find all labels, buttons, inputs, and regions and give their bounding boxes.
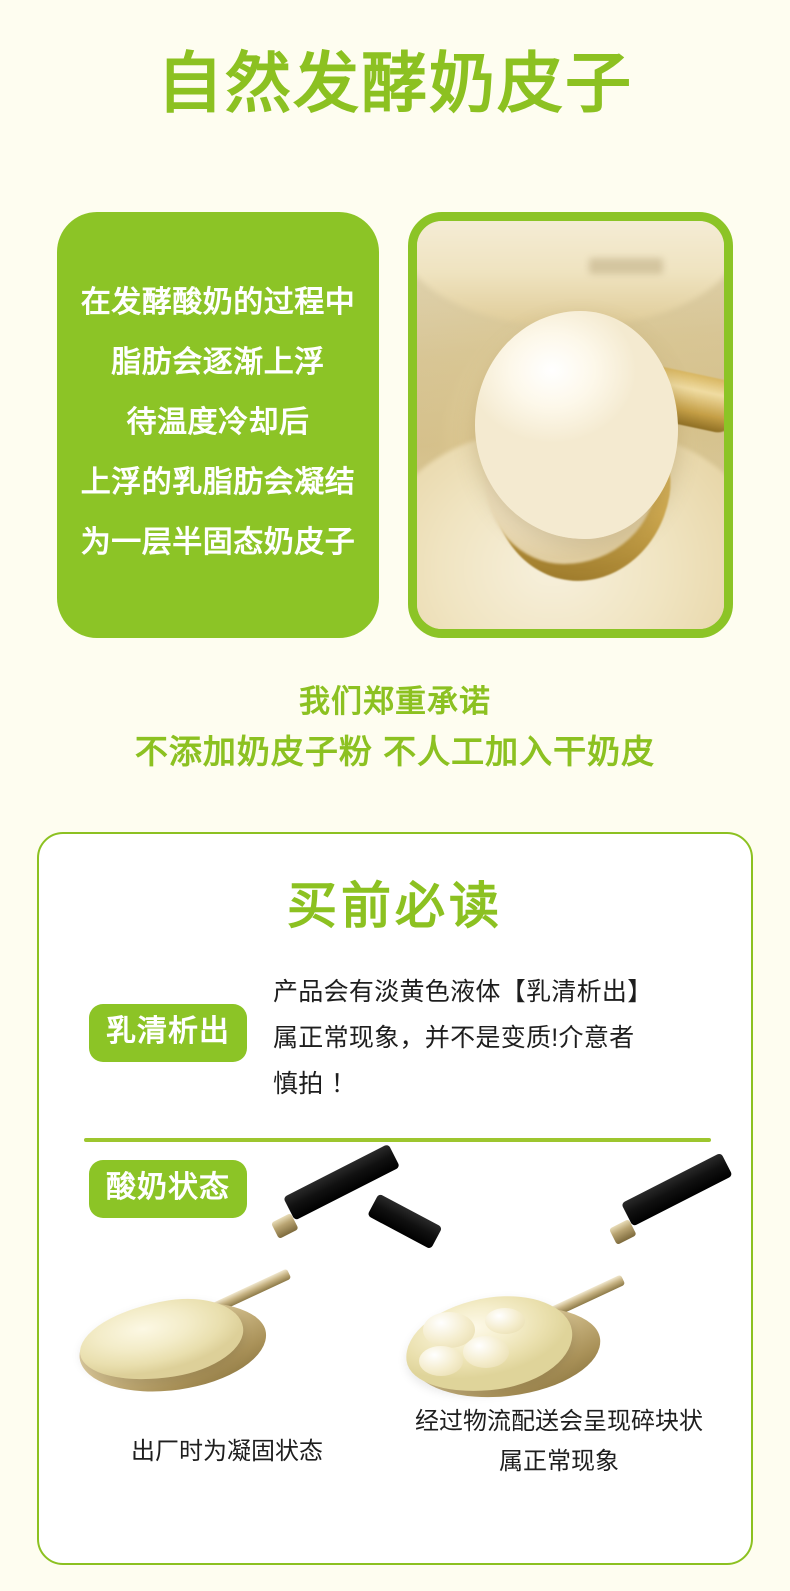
whey-line-2: 属正常现象，并不是变质!介意者 xyxy=(273,1018,703,1058)
must-read-card: 买前必读 乳清析出 产品会有淡黄色液体【乳清析出】 属正常现象，并不是变质!介意… xyxy=(37,832,753,1565)
yogurt-lump-4 xyxy=(485,1308,525,1334)
whey-line-1: 产品会有淡黄色液体【乳清析出】 xyxy=(273,972,703,1012)
hero-section: 在发酵酸奶的过程中 脂肪会逐渐上浮 待温度冷却后 上浮的乳脂肪会凝结 为一层半固… xyxy=(57,212,733,638)
caption-solid: 出厂时为凝固状态 xyxy=(57,1432,397,1472)
spoon-photo-solid xyxy=(57,1186,397,1436)
page-title: 自然发酵奶皮子 xyxy=(0,44,790,122)
yogurt-lump-3 xyxy=(419,1346,463,1376)
hero-line-3: 待温度冷却后 xyxy=(127,404,310,442)
caption-broken-line-2: 属正常现象 xyxy=(389,1442,729,1482)
section-divider xyxy=(84,1138,711,1142)
spoon-handle xyxy=(621,1153,733,1227)
yogurt-lump-2 xyxy=(463,1336,509,1368)
caption-solid-line-1: 出厂时为凝固状态 xyxy=(57,1432,397,1472)
caption-broken-line-1: 经过物流配送会呈现碎块状 xyxy=(389,1402,729,1442)
hero-product-photo xyxy=(408,212,733,638)
section-whey: 乳清析出 产品会有淡黄色液体【乳清析出】 属正常现象，并不是变质!介意者 慎拍 … xyxy=(39,972,751,1132)
spoon-photo-broken xyxy=(389,1186,729,1436)
promise-detail: 不添加奶皮子粉 不人工加入干奶皮 xyxy=(0,730,790,774)
caption-broken: 经过物流配送会呈现碎块状 属正常现象 xyxy=(389,1402,729,1482)
hero-line-2: 脂肪会逐渐上浮 xyxy=(111,344,325,382)
hero-milk-skin-blob xyxy=(475,311,678,539)
spoon-photo-row xyxy=(39,1186,751,1436)
whey-description: 产品会有淡黄色液体【乳清析出】 属正常现象，并不是变质!介意者 慎拍 ！ xyxy=(273,972,703,1110)
hero-text-panel: 在发酵酸奶的过程中 脂肪会逐渐上浮 待温度冷却后 上浮的乳脂肪会凝结 为一层半固… xyxy=(57,212,379,638)
promise-heading: 我们郑重承诺 xyxy=(0,682,790,722)
hero-line-4: 上浮的乳脂肪会凝结 xyxy=(81,464,356,502)
spoon-broken-image xyxy=(389,1186,729,1436)
spoon-solid-image xyxy=(57,1186,397,1436)
promise-block: 我们郑重承诺 不添加奶皮子粉 不人工加入干奶皮 xyxy=(0,682,790,774)
hero-line-1: 在发酵酸奶的过程中 xyxy=(81,284,356,322)
card-title: 买前必读 xyxy=(39,876,751,936)
whey-line-3: 慎拍 ！ xyxy=(273,1064,703,1104)
badge-whey: 乳清析出 xyxy=(89,1004,247,1062)
blurred-label-text xyxy=(589,258,663,274)
hero-line-5: 为一层半固态奶皮子 xyxy=(81,524,356,562)
